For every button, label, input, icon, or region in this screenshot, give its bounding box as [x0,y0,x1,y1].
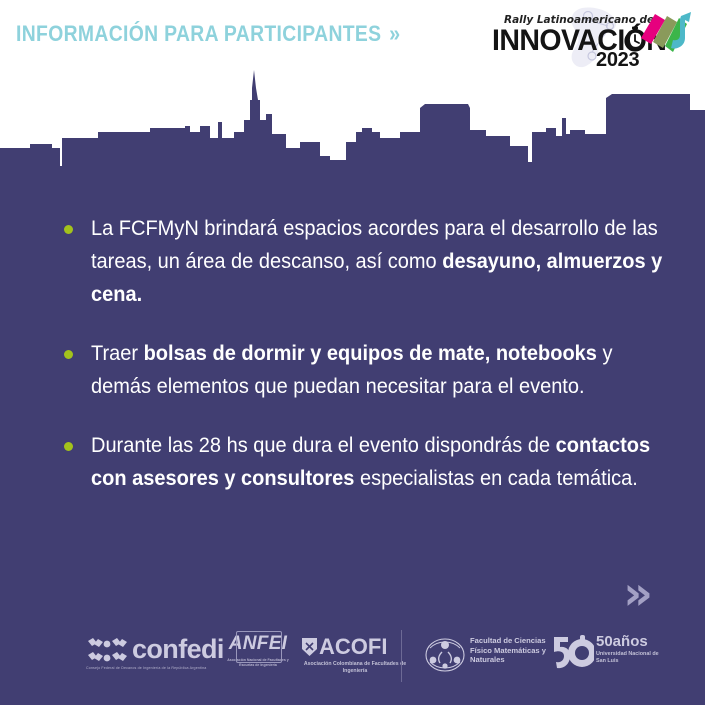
bullet-list: La FCFMyN brindará espacios acordes para… [58,212,663,521]
poster-slide: INFORMACIÓN PARA PARTICIPANTES » Rally L… [0,0,705,705]
logo-fcfmyn: Facultad de Ciencias Físico Matemáticas … [424,636,564,665]
logo-unsl: 50años Universidad Nacional de San Luis [552,634,662,665]
acofi-name: ACOFI [319,636,410,658]
bullet-segment: Traer [91,341,144,365]
header-title-text: INFORMACIÓN PARA PARTICIPANTES [16,21,381,47]
footer-logo-strip: confedi Consejo Federal de Decanos de In… [0,622,705,694]
unsl-50-mark-icon [552,635,594,671]
acofi-shield-icon [301,637,318,657]
bullet-segment-bold: bolsas de dormir y equipos de mate, note… [144,341,597,365]
confedi-mark-icon [86,637,128,665]
unsl-fifty-years: 50años [596,634,662,649]
footer-divider [401,630,402,682]
innovation-ribbon-icon [637,8,699,58]
list-item: Durante las 28 hs que dura el evento dis… [58,429,663,495]
bullet-bring-items-text: Traer bolsas de dormir y equipos de mate… [91,337,666,403]
list-item: Traer bolsas de dormir y equipos de mate… [58,337,663,403]
bullet-segment: Durante las 28 hs que dura el evento dis… [91,433,556,457]
event-logo-year: 2023 [596,49,639,72]
logo-acofi: ACOFI Asociación Colombiana de Facultade… [300,636,410,675]
header-title: INFORMACIÓN PARA PARTICIPANTES » [16,20,398,47]
logo-anfei: ANFEI Asociación Nacional de Facultades … [222,634,294,667]
bullet-segment: especialistas en cada temática. [354,466,637,490]
bullet-dot-icon [64,442,73,451]
next-chevron-icon: » [623,570,647,616]
bullet-advisors-text: Durante las 28 hs que dura el evento dis… [91,429,666,495]
header-chevron-icon: » [389,20,397,47]
acofi-tagline: Asociación Colombiana de Facultades de I… [300,661,410,675]
anfei-frame-icon [236,631,282,663]
event-logo: Rally Latinoamericano de INNOVACIÓN 2023 [484,4,699,70]
fcfmyn-emblem-icon [424,636,466,674]
bullet-dot-icon [64,350,73,359]
bullet-dot-icon [64,225,73,234]
bullet-catering-text: La FCFMyN brindará espacios acordes para… [91,212,666,311]
list-item: La FCFMyN brindará espacios acordes para… [58,212,663,311]
fcfmyn-name: Facultad de Ciencias Físico Matemáticas … [470,636,564,665]
unsl-tagline: Universidad Nacional de San Luis [596,651,662,665]
